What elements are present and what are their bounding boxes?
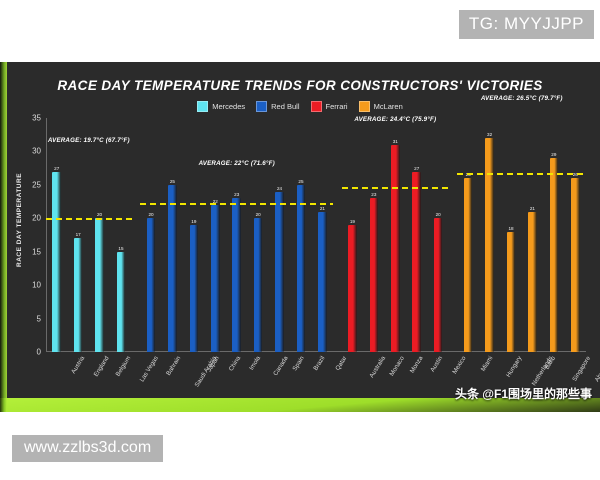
bar[interactable]: 23 — [370, 198, 379, 352]
plot-area: Austria27England17Belgium20Las Vegas15AV… — [46, 118, 586, 352]
average-line — [46, 218, 132, 220]
bar-value-label: 31 — [393, 139, 398, 144]
legend-label: Ferrari — [326, 102, 348, 111]
bar[interactable]: 27 — [52, 172, 61, 353]
average-line — [457, 173, 586, 175]
x-axis-label: Las Vegas — [139, 355, 160, 383]
x-axis-label: China — [227, 355, 242, 372]
bar-value-label: 20 — [436, 212, 441, 217]
y-axis-tick: 20 — [32, 214, 41, 223]
bar[interactable]: 18 — [507, 232, 516, 352]
bar-value-label: 21 — [530, 206, 535, 211]
bar-value-label: 27 — [414, 166, 419, 171]
bar[interactable]: 21 — [318, 212, 327, 352]
bar-value-label: 15 — [118, 246, 123, 251]
legend-item-mercedes[interactable]: Mercedes — [197, 101, 245, 112]
y-axis-tick: 5 — [37, 314, 41, 323]
average-label: AVERAGE: 26.5°C (79.7°F) — [481, 95, 563, 102]
bar-value-label: 19 — [350, 219, 355, 224]
legend-item-mclaren[interactable]: McLaren — [359, 101, 403, 112]
x-axis-label: Bahrain — [165, 355, 182, 377]
bar[interactable]: 20 — [434, 218, 443, 352]
average-label: AVERAGE: 22°C (71.6°F) — [199, 160, 275, 167]
bar-value-label: 32 — [487, 132, 492, 137]
bar[interactable]: 32 — [485, 138, 494, 352]
y-axis-tick: 35 — [32, 114, 41, 123]
bar[interactable]: 27 — [412, 172, 421, 353]
bar-value-label: 20 — [256, 212, 261, 217]
chart-title: RACE DAY TEMPERATURE TRENDS FOR CONSTRUC… — [0, 78, 600, 93]
bar-value-label: 19 — [191, 219, 196, 224]
legend-item-ferrari[interactable]: Ferrari — [311, 101, 348, 112]
bar[interactable]: 20 — [95, 218, 104, 352]
bar[interactable]: 19 — [190, 225, 199, 352]
bar[interactable]: 21 — [528, 212, 537, 352]
average-label: AVERAGE: 24.4°C (75.9°F) — [354, 116, 436, 123]
average-label: AVERAGE: 19.7°C (67.7°F) — [48, 137, 130, 144]
bar-value-label: 18 — [508, 226, 513, 231]
x-axis-label: Monza — [408, 355, 424, 374]
bar-value-label: 20 — [148, 212, 153, 217]
source-watermark: 头条 @F1围场里的那些事 — [455, 385, 592, 402]
y-axis-tick: 15 — [32, 247, 41, 256]
bars-layer: Austria27England17Belgium20Las Vegas15AV… — [46, 118, 586, 352]
x-axis-label: Mexico — [452, 355, 468, 375]
tg-watermark: TG: MYYJJPP — [459, 10, 594, 39]
bar[interactable]: 25 — [168, 185, 177, 352]
url-watermark: www.zzlbs3d.com — [12, 435, 163, 462]
x-axis-label: Austria — [70, 355, 86, 375]
bar[interactable]: 26 — [571, 178, 580, 352]
green-border-left — [0, 62, 7, 412]
x-axis-label: Hungary — [505, 355, 523, 379]
x-axis-label: Austin — [429, 355, 444, 373]
average-line — [342, 187, 449, 189]
x-axis-label: Canada — [273, 355, 290, 377]
bar-value-label: 25 — [298, 179, 303, 184]
bar-value-label: 21 — [320, 206, 325, 211]
x-axis-label: Spain — [291, 355, 305, 372]
bar-value-label: 27 — [54, 166, 59, 171]
legend-label: McLaren — [374, 102, 403, 111]
bar-value-label: 23 — [234, 192, 239, 197]
y-axis-tick: 10 — [32, 281, 41, 290]
legend-label: Mercedes — [212, 102, 245, 111]
legend-item-red-bull[interactable]: Red Bull — [256, 101, 299, 112]
bar[interactable]: 17 — [74, 238, 83, 352]
legend-swatch-icon — [197, 101, 208, 112]
bar-value-label: 23 — [371, 192, 376, 197]
bar[interactable]: 25 — [297, 185, 306, 352]
x-axis-label: Singapore — [571, 355, 592, 383]
x-axis-label: Monaco — [388, 355, 406, 377]
y-axis-tick: 25 — [32, 180, 41, 189]
bar[interactable]: 26 — [464, 178, 473, 352]
chart-frame: RACE DAY TEMPERATURE TRENDS FOR CONSTRUC… — [0, 62, 600, 412]
average-line — [140, 203, 333, 205]
y-axis-title: RACE DAY TEMPERATURE — [16, 173, 23, 267]
bar[interactable]: 20 — [147, 218, 156, 352]
bar-value-label: 17 — [76, 232, 81, 237]
y-axis-tick: 30 — [32, 147, 41, 156]
x-axis-label: England — [93, 355, 111, 378]
y-axis-tick: 0 — [37, 348, 41, 357]
x-axis-label: Qatar — [334, 355, 348, 372]
bar[interactable]: 19 — [348, 225, 357, 352]
x-axis-label: Japan — [206, 355, 221, 373]
legend-swatch-icon — [256, 101, 267, 112]
legend-swatch-icon — [359, 101, 370, 112]
bar-value-label: 25 — [170, 179, 175, 184]
bar[interactable]: 22 — [211, 205, 220, 352]
bar-value-label: 20 — [97, 212, 102, 217]
x-axis-label: Brazil — [313, 355, 327, 372]
bar[interactable]: 20 — [254, 218, 263, 352]
bar-value-label: 24 — [277, 186, 282, 191]
chart-legend: MercedesRed BullFerrariMcLaren — [0, 101, 600, 112]
bar[interactable]: 29 — [550, 158, 559, 352]
bar[interactable]: 15 — [117, 252, 126, 352]
bar[interactable]: 24 — [275, 192, 284, 352]
x-axis-label: Imola — [248, 355, 262, 372]
legend-label: Red Bull — [271, 102, 299, 111]
x-axis-label: Australia — [368, 355, 387, 379]
bar[interactable]: 23 — [232, 198, 241, 352]
legend-swatch-icon — [311, 101, 322, 112]
x-axis-label: Miami — [480, 355, 495, 373]
bar-value-label: 29 — [551, 152, 556, 157]
x-axis-label: Abu Dhabi — [593, 355, 600, 383]
x-axis-label: Belgium — [114, 355, 132, 378]
bar[interactable]: 31 — [391, 145, 400, 352]
